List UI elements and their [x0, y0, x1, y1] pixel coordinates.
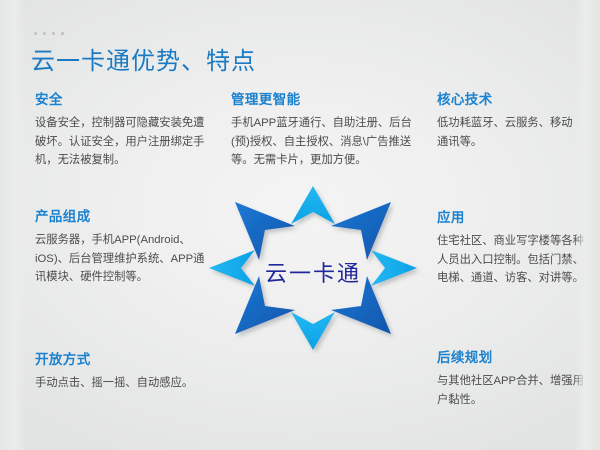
feature-heading: 应用	[437, 206, 587, 226]
feature-heading: 开放方式	[35, 348, 205, 368]
arrow-up-left-icon	[235, 202, 295, 260]
feature-body: 与其他社区APP合并、增强用户黏性。	[437, 372, 592, 409]
arrow-down-icon	[291, 312, 335, 350]
feature-body: 手机APP蓝牙通行、自助注册、后台(预)授权、自主授权、消息\广告推送等。无需卡…	[231, 114, 421, 170]
feature-block-houxu: 后续规划 与其他社区APP合并、增强用户黏性。	[437, 346, 592, 409]
feature-heading: 管理更智能	[231, 88, 421, 108]
feature-body: 手动点击、摇一摇、自动感应。	[35, 374, 205, 393]
feature-block-kaifang: 开放方式 手动点击、摇一摇、自动感应。	[35, 348, 205, 393]
feature-heading: 安全	[35, 88, 210, 108]
feature-body: 住宅社区、商业写字楼等各种人员出入口控制。包括门禁、电梯、通道、访客、对讲等。	[437, 232, 587, 288]
feature-block-hexin: 核心技术 低功耗蓝牙、云服务、移动通讯等。	[437, 88, 577, 151]
feature-block-anquan: 安全 设备安全，控制器可隐藏安装免遭破坏。认证安全，用户注册绑定手机，无法被复制…	[35, 88, 210, 170]
center-hub-label: 云一卡通	[203, 256, 423, 288]
page-title: 云一卡通优势、特点	[31, 41, 256, 76]
slide-canvas: 云一卡通优势、特点 安全 设备安全，控制器可隐藏安装免遭破坏。认证安全，用户注册…	[0, 0, 600, 450]
arrow-up-right-icon	[331, 202, 391, 260]
feature-body: 云服务器，手机APP(Android、iOS)、后台管理维护系统、APP通讯模块…	[35, 231, 215, 287]
center-hub: 云一卡通	[203, 182, 423, 354]
feature-block-guanli: 管理更智能 手机APP蓝牙通行、自助注册、后台(预)授权、自主授权、消息\广告推…	[231, 88, 421, 170]
feature-heading: 核心技术	[437, 88, 577, 108]
feature-heading: 后续规划	[437, 346, 592, 366]
title-dots-decoration	[34, 32, 64, 35]
title-dot	[61, 32, 64, 35]
title-dot	[52, 32, 55, 35]
feature-body: 低功耗蓝牙、云服务、移动通讯等。	[437, 114, 577, 151]
arrow-up-icon	[291, 186, 335, 224]
feature-block-yingyong: 应用 住宅社区、商业写字楼等各种人员出入口控制。包括门禁、电梯、通道、访客、对讲…	[437, 206, 587, 288]
feature-heading: 产品组成	[35, 205, 215, 225]
feature-block-chanpin: 产品组成 云服务器，手机APP(Android、iOS)、后台管理维护系统、AP…	[35, 205, 215, 287]
feature-body: 设备安全，控制器可隐藏安装免遭破坏。认证安全，用户注册绑定手机，无法被复制。	[35, 114, 210, 170]
title-dot	[43, 32, 46, 35]
title-dot	[34, 32, 37, 35]
